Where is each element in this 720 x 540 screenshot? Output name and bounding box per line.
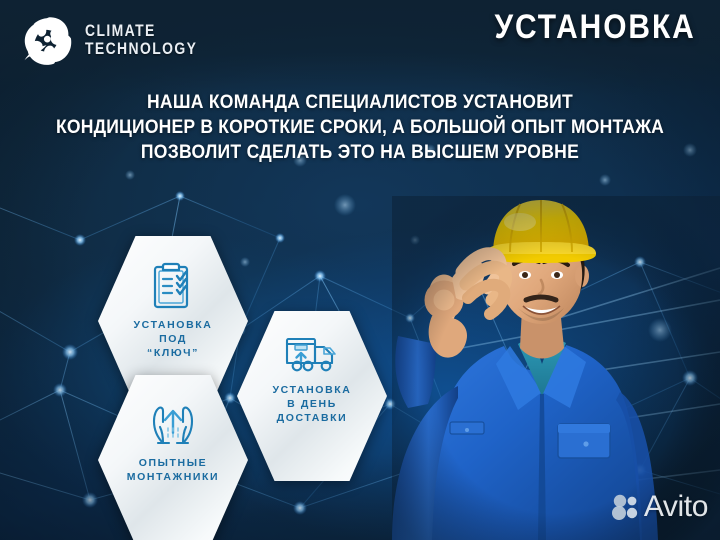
clipboard-checklist-icon — [150, 260, 196, 310]
fan-swirl-icon — [22, 13, 76, 67]
feature-label-line2: МОНТАЖНИКИ — [127, 471, 219, 485]
brand-name: CLIMATE TECHNOLOGY — [85, 22, 197, 57]
feature-label-line2: ПОД — [134, 333, 213, 347]
feature-label: УСТАНОВКА В ДЕНЬ ДОСТАВКИ — [273, 384, 352, 426]
brand-name-line1: CLIMATE — [85, 22, 197, 40]
headline-line-1: НАША КОМАНДА СПЕЦИАЛИСТОВ УСТАНОВИТ — [36, 90, 684, 115]
feature-label-line1: ОПЫТНЫЕ — [127, 457, 219, 471]
worker-photo — [392, 196, 720, 540]
feature-label-line1: УСТАНОВКА — [134, 319, 213, 333]
hands-care-arrow-icon — [146, 401, 200, 447]
headline-line-3: ПОЗВОЛИТ СДЕЛАТЬ ЭТО НА ВЫСШЕМ УРОВНЕ — [36, 140, 684, 165]
feature-hexagon-same-day-delivery[interactable]: УСТАНОВКА В ДЕНЬ ДОСТАВКИ — [237, 311, 387, 481]
brand-name-line2: TECHNOLOGY — [85, 40, 197, 58]
feature-label-line2: В ДЕНЬ — [273, 398, 352, 412]
feature-label-line3: “КЛЮЧ” — [134, 347, 213, 361]
feature-label-line3: ДОСТАВКИ — [273, 412, 352, 426]
avito-dots-icon — [611, 493, 639, 521]
feature-label-line1: УСТАНОВКА — [273, 384, 352, 398]
avito-wordmark: Avito — [644, 490, 708, 524]
page-title: УСТАНОВКА — [495, 8, 696, 47]
feature-label: УСТАНОВКА ПОД “КЛЮЧ” — [134, 319, 213, 361]
feature-hexagon-experienced-installers[interactable]: ОПЫТНЫЕ МОНТАЖНИКИ — [98, 375, 248, 540]
delivery-truck-icon — [284, 333, 340, 375]
headline: НАША КОМАНДА СПЕЦИАЛИСТОВ УСТАНОВИТ КОНД… — [0, 90, 720, 165]
headline-line-2: КОНДИЦИОНЕР В КОРОТКИЕ СРОКИ, А БОЛЬШОЙ … — [36, 115, 684, 140]
brand-logo[interactable]: CLIMATE TECHNOLOGY — [22, 13, 222, 67]
promo-poster: CLIMATE TECHNOLOGY УСТАНОВКА НАША КОМАНД… — [0, 0, 720, 540]
avito-watermark: Avito — [611, 490, 708, 524]
feature-label: ОПЫТНЫЕ МОНТАЖНИКИ — [127, 457, 219, 485]
